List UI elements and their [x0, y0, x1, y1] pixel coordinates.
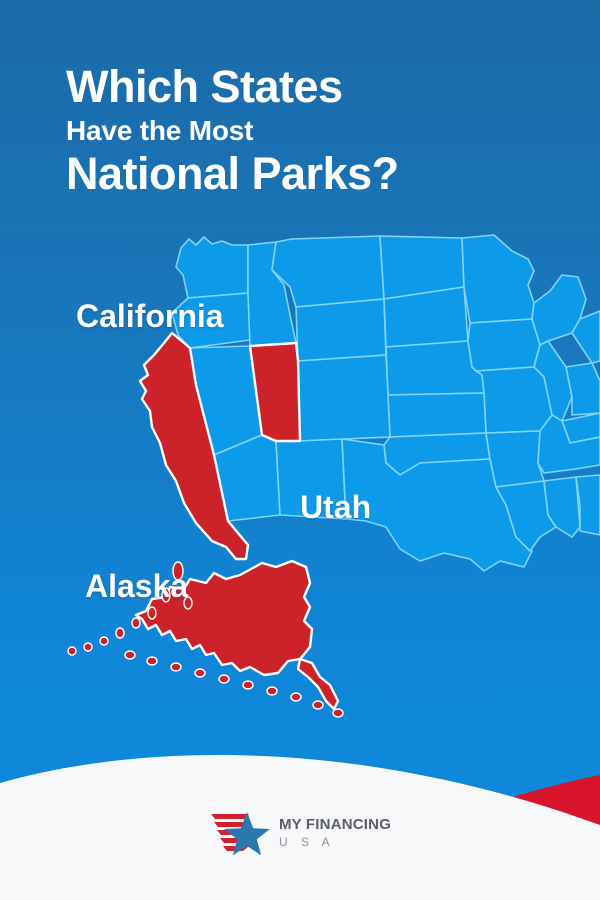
state-kansas [388, 393, 486, 437]
logo-wordmark: MY FINANCING U S A [279, 817, 391, 848]
state-montana [272, 236, 384, 307]
aleutian-island [84, 643, 92, 651]
aleutian-island [100, 637, 108, 645]
logo-primary-text: MY FINANCING [279, 817, 391, 832]
state-indiana [566, 363, 600, 415]
aleutian-island [116, 628, 124, 638]
aleutian-island [333, 709, 343, 717]
map-label-alaska: Alaska [85, 568, 188, 605]
poster-title: Which States Have the Most National Park… [66, 62, 536, 199]
state-wyoming [296, 299, 386, 361]
state-washington [176, 237, 248, 298]
state-iowa [468, 319, 540, 371]
logo-secondary-text: U S A [279, 836, 391, 848]
aleutian-island [68, 647, 76, 655]
title-line-3: National Parks? [66, 149, 536, 199]
state-arkansas [486, 431, 544, 487]
logo-swoosh-star-icon [209, 808, 273, 856]
aleutian-island [267, 687, 277, 695]
title-line-2: Have the Most [66, 114, 536, 148]
title-line-1: Which States [66, 62, 536, 112]
aleutian-island [171, 663, 181, 671]
state-colorado [298, 355, 390, 441]
aleutian-island [132, 618, 140, 628]
aleutian-island [243, 681, 253, 689]
aleutian-island [291, 693, 301, 701]
aleutian-island [219, 675, 229, 683]
state-alabama [576, 475, 600, 535]
aleutian-island [148, 607, 156, 619]
map-label-california: California [76, 298, 224, 335]
aleutian-island [125, 651, 135, 659]
state-minnesota [462, 235, 534, 323]
state-missouri [476, 367, 552, 433]
aleutian-island [195, 669, 205, 677]
brand-logo[interactable]: MY FINANCING U S A [0, 804, 600, 860]
infographic-poster: Which States Have the Most National Park… [0, 0, 600, 900]
map-label-utah: Utah [300, 489, 371, 526]
aleutian-island [313, 701, 323, 709]
aleutian-island [147, 657, 157, 665]
usa-map [0, 215, 600, 735]
